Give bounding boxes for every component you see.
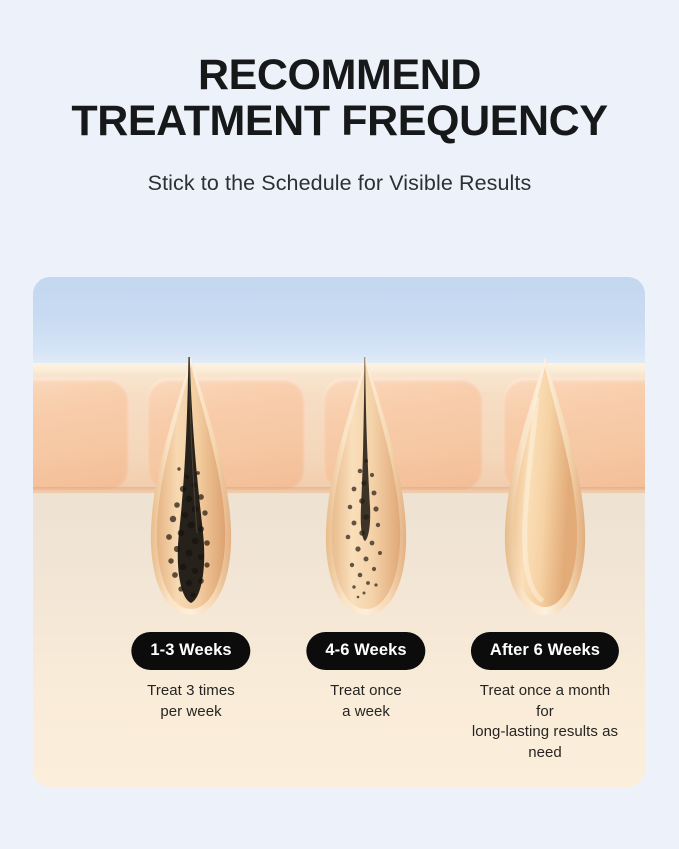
badge-after-6-weeks[interactable]: After 6 Weeks bbox=[471, 632, 619, 670]
page-title: RECOMMEND TREATMENT FREQUENCY bbox=[0, 52, 679, 145]
hair-follicle-after-6-weeks bbox=[485, 357, 605, 617]
air-above-skin bbox=[33, 277, 645, 369]
treatment-legend: 1-3 Weeks Treat 3 times per week 4-6 Wee… bbox=[33, 632, 645, 752]
follicle-week-4-6-graphic bbox=[306, 357, 426, 617]
hair-follicle-week-4-6 bbox=[306, 357, 426, 617]
illustration-card: 1-3 Weeks Treat 3 times per week 4-6 Wee… bbox=[33, 277, 645, 787]
caption-week-1-3: Treat 3 times per week bbox=[131, 681, 250, 722]
badge-week-4-6[interactable]: 4-6 Weeks bbox=[306, 632, 425, 670]
caption-after-6-weeks: Treat once a month for long-lasting resu… bbox=[471, 681, 619, 764]
page-header: RECOMMEND TREATMENT FREQUENCY Stick to t… bbox=[0, 0, 679, 196]
skin-cell-block bbox=[33, 378, 129, 490]
page-title-line-2: TREATMENT FREQUENCY bbox=[24, 98, 655, 144]
legend-item-week-1-3: 1-3 Weeks Treat 3 times per week bbox=[131, 632, 250, 722]
follicle-after-6-weeks-graphic bbox=[485, 357, 605, 617]
legend-item-after-6-weeks: After 6 Weeks Treat once a month for lon… bbox=[471, 632, 619, 764]
badge-week-1-3[interactable]: 1-3 Weeks bbox=[131, 632, 250, 670]
legend-item-week-4-6: 4-6 Weeks Treat once a week bbox=[306, 632, 425, 722]
follicle-week-1-3-graphic bbox=[131, 357, 251, 617]
caption-week-4-6: Treat once a week bbox=[306, 681, 425, 722]
page-title-line-1: RECOMMEND bbox=[24, 52, 655, 98]
page-subtitle: Stick to the Schedule for Visible Result… bbox=[0, 171, 679, 196]
hair-follicle-week-1-3 bbox=[131, 357, 251, 617]
